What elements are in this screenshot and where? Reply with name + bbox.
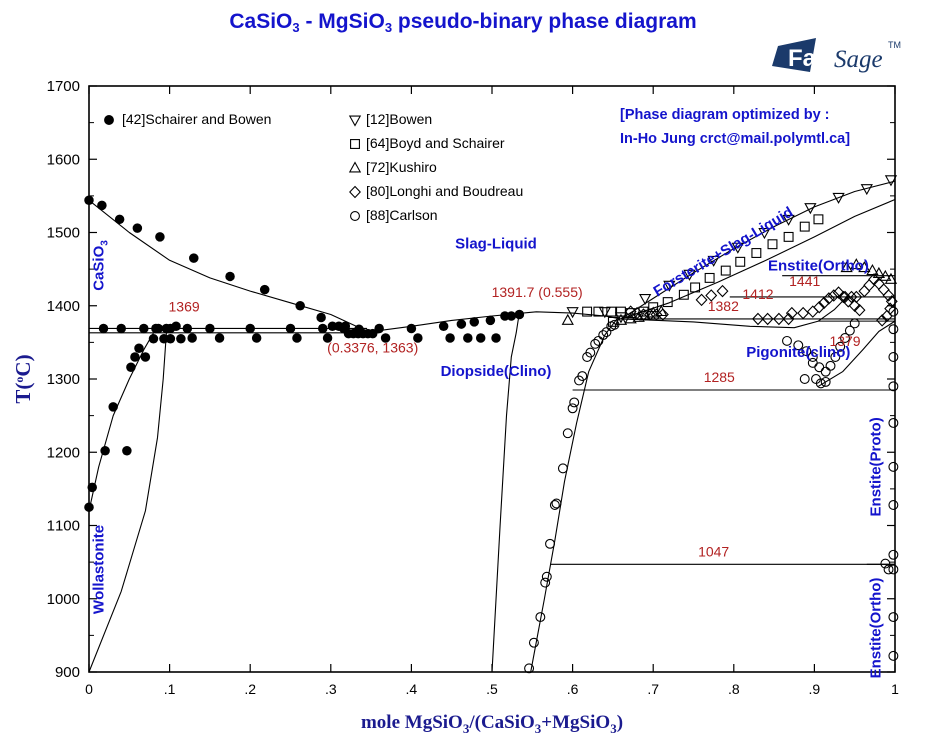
legend-marker	[104, 115, 114, 125]
data-point	[286, 324, 296, 334]
legend-marker	[350, 187, 360, 198]
value-label: 1369	[169, 299, 200, 315]
y-tick-label: 1400	[47, 298, 80, 315]
phase-label: Diopside(Clino)	[441, 363, 552, 380]
data-point	[784, 232, 793, 241]
data-point	[439, 322, 449, 332]
data-point	[445, 333, 455, 343]
data-point	[768, 240, 777, 249]
data-point	[318, 324, 328, 334]
data-point	[97, 201, 107, 211]
data-point	[859, 286, 869, 297]
x-tick-label: .1	[164, 681, 176, 697]
data-point	[567, 308, 577, 317]
y-tick-label: 900	[55, 664, 80, 681]
data-point	[295, 301, 305, 311]
data-point	[889, 501, 898, 510]
legend-label: [12]Bowen	[366, 111, 432, 127]
data-point	[100, 446, 110, 456]
data-point	[798, 308, 808, 319]
value-label: 1379	[829, 333, 860, 349]
data-point	[84, 196, 94, 206]
data-point	[705, 273, 714, 282]
data-point	[491, 333, 501, 343]
data-point	[507, 311, 517, 321]
x-tick-label: .2	[244, 681, 256, 697]
data-point	[717, 286, 727, 297]
data-point	[889, 462, 898, 471]
data-point	[568, 404, 577, 413]
data-point	[864, 280, 874, 291]
data-point	[134, 343, 144, 353]
data-point	[470, 317, 480, 327]
data-point	[205, 324, 215, 334]
data-point	[889, 382, 898, 391]
data-point	[141, 352, 151, 362]
phase-label: Wollastonite	[91, 525, 108, 614]
data-point	[457, 319, 467, 329]
phase-labels-layer: CaSiO3WollastoniteSlag-LiquidForsterite+…	[91, 204, 885, 679]
y-axis-label: T(oC)	[11, 354, 35, 403]
data-point	[162, 324, 172, 334]
legend-marker	[351, 212, 360, 221]
value-label: 1285	[704, 369, 735, 385]
data-point	[476, 333, 486, 343]
data-point	[316, 313, 326, 323]
data-point	[563, 315, 573, 324]
data-point	[889, 353, 898, 362]
legend-marker	[351, 140, 360, 149]
data-point	[879, 284, 889, 295]
data-point	[463, 333, 473, 343]
x-tick-label: .5	[486, 681, 498, 697]
data-point	[225, 272, 235, 282]
data-point	[515, 310, 525, 320]
x-tick-label: .9	[809, 681, 821, 697]
legend-label: [80]Longhi and Boudreau	[366, 183, 523, 199]
annotation-line: [Phase diagram optimized by :	[620, 107, 830, 123]
value-label: 1412	[742, 286, 773, 302]
legend-layer: [42]Schairer and Bowen[12]Bowen[64]Boyd …	[104, 111, 523, 223]
data-point	[529, 638, 538, 647]
phase-label: Enstite(Ortho)	[868, 578, 885, 679]
data-point	[84, 502, 94, 512]
data-point	[187, 333, 197, 343]
x-tick-label: .7	[647, 681, 659, 697]
data-point	[189, 253, 199, 263]
data-point	[542, 572, 551, 581]
y-tick-label: 1000	[47, 591, 80, 608]
data-point	[889, 325, 898, 334]
annotation-layer: [Phase diagram optimized by :In-Ho Jung …	[620, 107, 850, 147]
legend-label: [72]Kushiro	[366, 159, 437, 175]
data-point	[541, 578, 550, 587]
data-point	[721, 266, 730, 275]
phase-diagram-page: CaSiO3 - MgSiO3 pseudo-binary phase diag…	[0, 0, 926, 738]
data-point	[736, 257, 745, 266]
data-point	[245, 324, 255, 334]
y-tick-label: 1200	[47, 444, 80, 461]
phase-label: Enstite(Proto)	[868, 417, 885, 516]
data-point	[889, 651, 898, 660]
phase-label: CaSiO3	[91, 240, 111, 291]
annotation-line: In-Ho Jung crct@mail.polymtl.ca]	[620, 131, 850, 147]
data-point	[116, 324, 126, 334]
data-point	[815, 363, 824, 372]
data-point	[176, 334, 186, 344]
phase-diagram-plot: 0.1.2.3.4.5.6.7.8.9190010001100120013001…	[0, 0, 926, 738]
data-point	[800, 375, 809, 384]
data-point	[215, 333, 225, 343]
y-tick-label: 1600	[47, 151, 80, 168]
data-point	[559, 464, 568, 473]
data-point	[889, 419, 898, 428]
data-point	[149, 334, 159, 344]
data-point	[87, 483, 97, 493]
x-tick-label: .8	[728, 681, 740, 697]
legend-label: [64]Boyd and Schairer	[366, 135, 505, 151]
value-label: (0.3376, 1363)	[327, 340, 418, 356]
data-point	[826, 361, 835, 370]
value-label: 1441	[789, 273, 820, 289]
data-point	[130, 352, 140, 362]
data-point	[889, 550, 898, 559]
data-point	[563, 429, 572, 438]
boundary-curves-layer	[89, 181, 895, 672]
data-point	[814, 215, 823, 224]
boundary-curve	[89, 200, 361, 328]
data-point	[252, 333, 262, 343]
data-point	[407, 324, 417, 334]
data-point	[166, 334, 176, 344]
value-label: 1391.7 (0.555)	[492, 284, 583, 300]
data-point	[292, 333, 302, 343]
data-point	[570, 398, 579, 407]
data-point	[486, 316, 496, 326]
data-point	[171, 322, 181, 332]
legend-marker	[350, 163, 360, 172]
y-tick-label: 1100	[47, 518, 80, 535]
data-point	[183, 324, 193, 334]
value-label: 1382	[708, 298, 739, 314]
data-point	[99, 324, 109, 334]
x-tick-label: .6	[567, 681, 579, 697]
data-point	[752, 249, 761, 258]
data-point	[889, 613, 898, 622]
y-tick-label: 1700	[47, 78, 80, 95]
data-point	[821, 367, 830, 376]
data-point	[108, 402, 118, 412]
data-point	[139, 324, 149, 334]
data-point	[800, 222, 809, 231]
x-tick-label: 1	[891, 681, 899, 697]
data-point	[126, 363, 136, 373]
axes-layer: 0.1.2.3.4.5.6.7.8.9190010001100120013001…	[11, 78, 899, 736]
legend-label: [88]Carlson	[366, 207, 438, 223]
data-point	[546, 539, 555, 548]
data-point	[122, 446, 132, 456]
legend-marker	[350, 116, 360, 125]
x-tick-label: .3	[325, 681, 337, 697]
value-label: 1047	[698, 543, 729, 559]
data-point	[115, 215, 125, 225]
data-point	[151, 324, 161, 334]
y-tick-label: 1500	[47, 225, 80, 242]
data-point	[155, 232, 165, 242]
x-tick-label: .4	[406, 681, 418, 697]
data-point	[808, 306, 818, 317]
phase-label: Slag-Liquid	[455, 236, 537, 253]
data-point	[696, 294, 706, 305]
legend-label: [42]Schairer and Bowen	[122, 111, 271, 127]
y-tick-label: 1300	[47, 371, 80, 388]
data-point	[850, 319, 859, 328]
data-point	[133, 223, 143, 233]
data-point	[260, 285, 270, 295]
x-tick-label: 0	[85, 681, 93, 697]
x-axis-label: mole MgSiO3/(CaSiO3+MgSiO3)	[361, 712, 623, 736]
data-point	[374, 324, 384, 334]
data-point	[889, 307, 898, 316]
